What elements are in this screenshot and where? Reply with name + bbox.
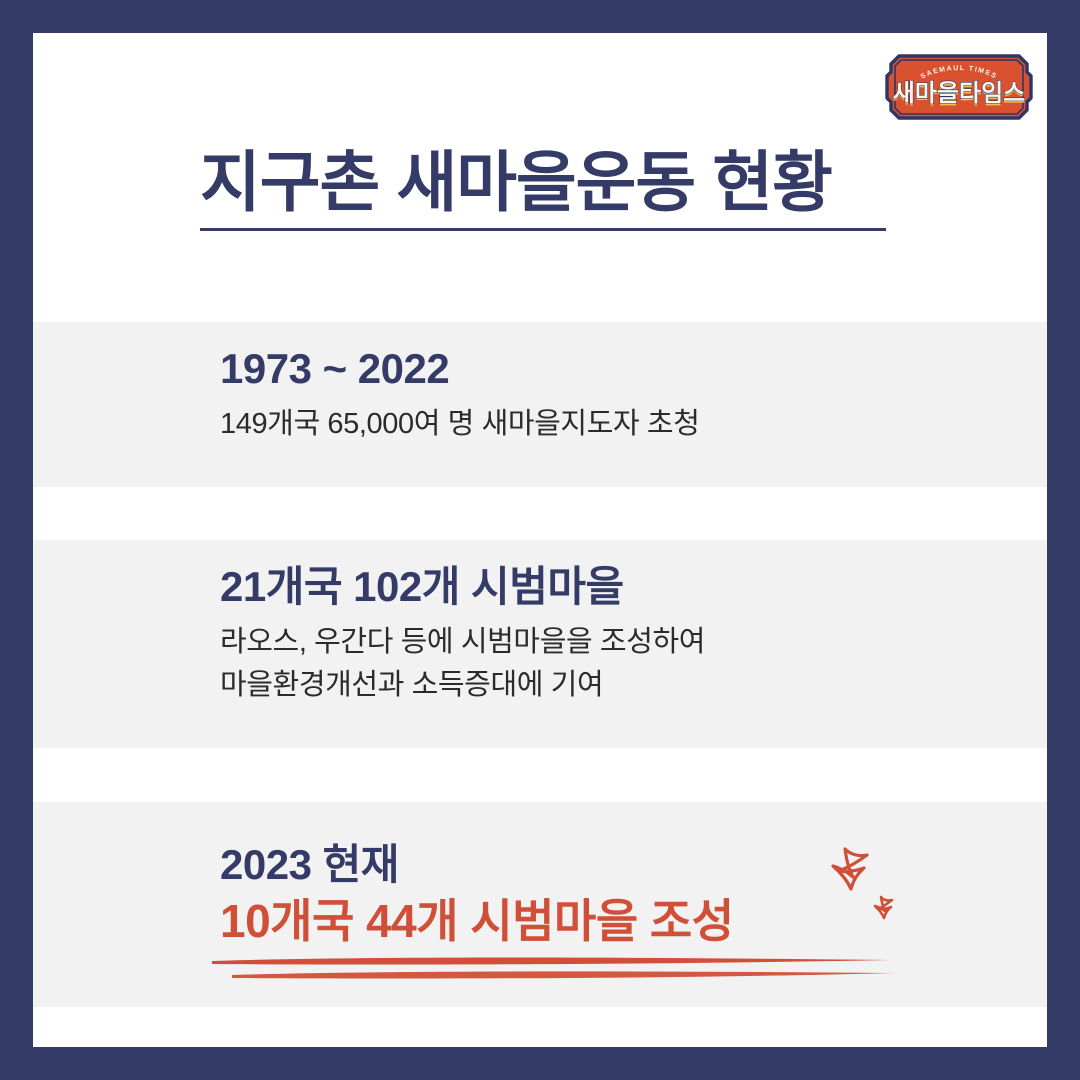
section-3-heading: 2023 현재	[220, 840, 734, 890]
logo-wordmark: 새마을타임스	[893, 80, 1025, 107]
section-2-heading: 21개국 102개 시범마을	[220, 562, 705, 612]
page-title-block: 지구촌 새마을운동 현황	[200, 146, 900, 231]
infographic-card: SAEMAUL TIMES 새마을타임스 새마을타임스 지구촌 새마을운동 현황…	[0, 0, 1080, 1080]
section-3-accent-heading: 10개국 44개 시범마을 조성	[220, 894, 734, 948]
section-1-heading: 1973 ~ 2022	[220, 344, 699, 394]
section-1-body-line-1: 149개국 65,000여 명 새마을지도자 초청	[220, 404, 699, 445]
title-underline	[200, 228, 886, 231]
section-2-body-line-1: 라오스, 우간다 등에 시범마을을 조성하여	[220, 622, 705, 663]
section-2023-current: 2023 현재 10개국 44개 시범마을 조성	[220, 840, 734, 948]
card-canvas: SAEMAUL TIMES 새마을타임스 새마을타임스 지구촌 새마을운동 현황…	[33, 33, 1047, 1047]
section-21-countries: 21개국 102개 시범마을 라오스, 우간다 등에 시범마을을 조성하여 마을…	[220, 562, 705, 706]
saemaul-times-logo: SAEMAUL TIMES 새마을타임스 새마을타임스	[885, 50, 1033, 124]
page-title: 지구촌 새마을운동 현황	[200, 146, 900, 220]
section-2-body-line-2: 마을환경개선과 소득증대에 기여	[220, 665, 705, 706]
section-1973-2022: 1973 ~ 2022 149개국 65,000여 명 새마을지도자 초청	[220, 344, 699, 445]
